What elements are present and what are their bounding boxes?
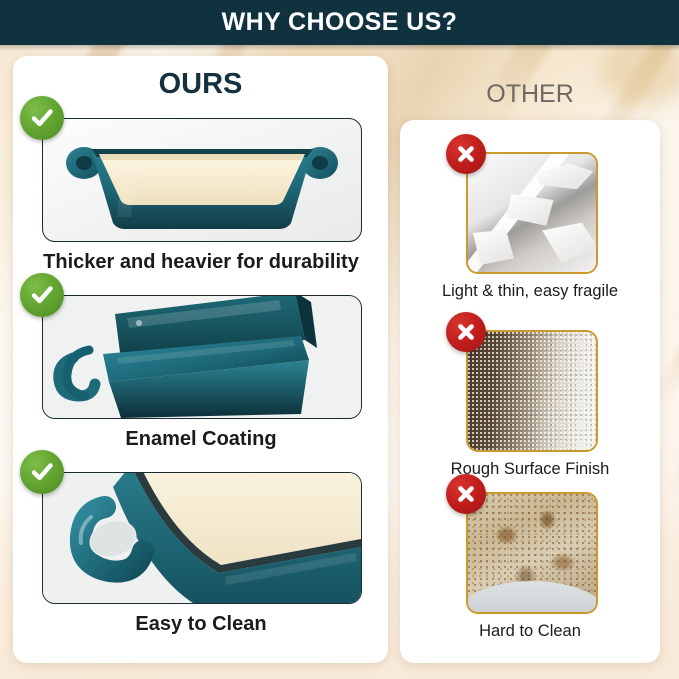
rough-grainy-surface-texture-icon	[468, 332, 596, 450]
check-badge	[20, 96, 64, 140]
check-badge	[20, 273, 64, 317]
other-item-3-image	[466, 492, 598, 614]
ours-item-1-thumb-wrap	[42, 118, 360, 242]
broken-white-ceramic-shards-icon	[468, 154, 596, 272]
x-badge	[446, 474, 486, 514]
header-bar: WHY CHOOSE US?	[0, 0, 679, 45]
other-item-3-thumb-wrap	[466, 492, 594, 614]
other-item-1-thumb-wrap	[466, 152, 594, 274]
ours-item-2-thumb-wrap	[42, 295, 360, 419]
other-item-2-image	[466, 330, 598, 452]
check-badge	[20, 450, 64, 494]
other-item-3: Hard to Clean	[466, 492, 594, 641]
infographic-root: WHY CHOOSE US? OURS	[0, 0, 679, 679]
other-item-1-caption: Light & thin, easy fragile	[435, 282, 625, 301]
ours-item-3-thumb-wrap	[42, 472, 360, 604]
x-icon	[455, 143, 477, 165]
header-shadow	[0, 45, 679, 51]
other-column-title: OTHER	[400, 80, 660, 109]
ours-item-1-image	[42, 118, 362, 242]
teal-baking-dish-front-view-icon	[43, 119, 361, 241]
burnt-stained-pan-surface-icon	[468, 494, 596, 612]
ours-item-3-caption: Easy to Clean	[42, 613, 360, 636]
teal-dish-handle-cream-interior-closeup-icon	[43, 473, 361, 603]
ours-item-2-image	[42, 295, 362, 419]
check-icon	[29, 459, 55, 485]
x-badge	[446, 312, 486, 352]
x-badge	[446, 134, 486, 174]
other-item-3-caption: Hard to Clean	[435, 622, 625, 641]
check-icon	[29, 282, 55, 308]
page-title: WHY CHOOSE US?	[222, 8, 458, 37]
ours-item-1: Thicker and heavier for durability	[42, 118, 360, 274]
check-icon	[29, 105, 55, 131]
ours-column-title: OURS	[13, 68, 388, 101]
x-icon	[455, 321, 477, 343]
x-icon	[455, 483, 477, 505]
ours-item-3-image	[42, 472, 362, 604]
other-item-1-image	[466, 152, 598, 274]
teal-dish-angled-enamel-closeup-icon	[43, 296, 361, 418]
ours-item-2: Enamel Coating	[42, 295, 360, 451]
other-item-1: Light & thin, easy fragile	[466, 152, 594, 301]
other-item-2: Rough Surface Finish	[466, 330, 594, 479]
other-item-2-thumb-wrap	[466, 330, 594, 452]
ours-item-2-caption: Enamel Coating	[42, 428, 360, 451]
ours-item-1-caption: Thicker and heavier for durability	[42, 251, 360, 274]
ours-item-3: Easy to Clean	[42, 472, 360, 636]
